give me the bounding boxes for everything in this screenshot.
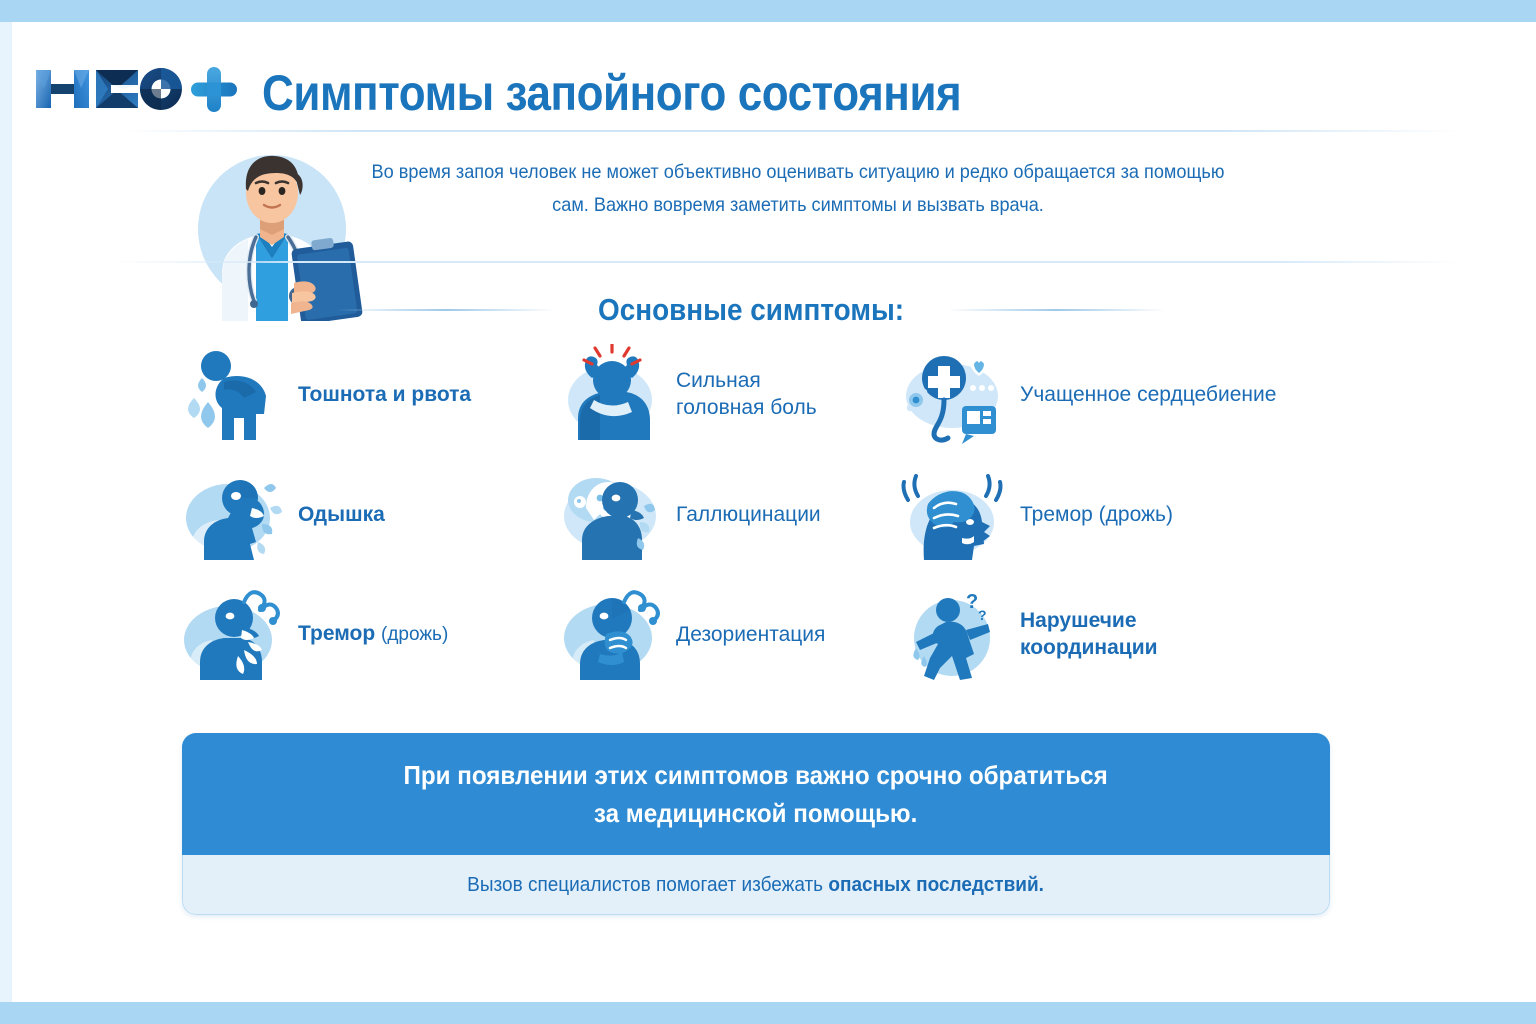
left-accent-strip	[0, 22, 12, 1002]
symptom-item: Одышка	[178, 464, 385, 564]
heading-rule-right	[947, 309, 1166, 311]
infographic-page: Симптомы запойного состояния	[0, 0, 1536, 1024]
symptom-item: Галлюцинации	[556, 464, 821, 564]
symptom-label: Тошнота и рвота	[298, 381, 471, 408]
symptom-label: Одышка	[298, 501, 385, 528]
symptom-label: Сильная головная боль	[676, 367, 817, 421]
symptom-item: Дезориентация	[556, 584, 825, 684]
coordination-loss-icon: ? ?	[900, 584, 1008, 684]
heartbeat-monitor-icon	[900, 344, 1008, 444]
symptom-item: Тремор (дрожь)	[900, 464, 1173, 564]
headache-person-icon	[556, 344, 664, 444]
symptom-label: Тремор (дрожь)	[298, 620, 448, 648]
breathlessness-icon	[178, 464, 286, 564]
symptom-label: Тремор (дрожь)	[1020, 501, 1173, 528]
vomiting-person-icon	[178, 344, 286, 444]
neo-plus-logo	[34, 60, 239, 118]
disorientation-icon	[556, 584, 664, 684]
intro-paragraph: Во время запоя человек не может объектив…	[352, 156, 1245, 222]
svg-text:?: ?	[978, 607, 987, 623]
tremor-sweating-icon	[178, 584, 286, 684]
symptom-label: Учащенное сердцебиение	[1020, 381, 1276, 408]
symptom-label: Галлюцинации	[676, 501, 821, 528]
callout-primary-text: При появлении этих симптомов важно срочн…	[404, 756, 1108, 832]
intro-divider	[110, 261, 1460, 263]
header-divider	[120, 130, 1460, 132]
symptom-label: Нарушечие координации	[1020, 607, 1158, 661]
symptom-label: Дезориентация	[676, 621, 825, 648]
call-to-action-callout: При появлении этих симптомов важно срочн…	[182, 733, 1330, 915]
top-accent-bar	[0, 0, 1536, 22]
right-margin-strip	[1526, 22, 1536, 1002]
svg-text:?: ?	[966, 591, 978, 613]
symptoms-grid: Тошнота и рвота	[178, 344, 1358, 704]
symptom-item: Тошнота и рвота	[178, 344, 471, 444]
symptom-item: Учащенное сердцебиение	[900, 344, 1276, 444]
symptom-item: Тремор (дрожь)	[178, 584, 448, 684]
page-title: Симптомы запойного состояния	[262, 64, 961, 122]
section-heading-label: Основные симптомы:	[598, 292, 904, 328]
heading-rule-left	[336, 309, 555, 311]
callout-primary-band: При появлении этих симптомов важно срочн…	[182, 733, 1330, 855]
tremor-hands-head-icon	[900, 464, 1008, 564]
callout-secondary-band: Вызов специалистов помогает избежать опа…	[182, 855, 1330, 915]
symptom-item: Сильная головная боль	[556, 344, 817, 444]
section-heading: Основные симптомы:	[336, 288, 1166, 332]
symptom-item: ? ? Нарушечие координации	[900, 584, 1158, 684]
bottom-accent-bar	[0, 1002, 1536, 1024]
page-header: Симптомы запойного состояния	[0, 22, 1536, 130]
callout-secondary-text: Вызов специалистов помогает избежать опа…	[468, 872, 1045, 898]
hallucination-ghost-icon	[556, 464, 664, 564]
